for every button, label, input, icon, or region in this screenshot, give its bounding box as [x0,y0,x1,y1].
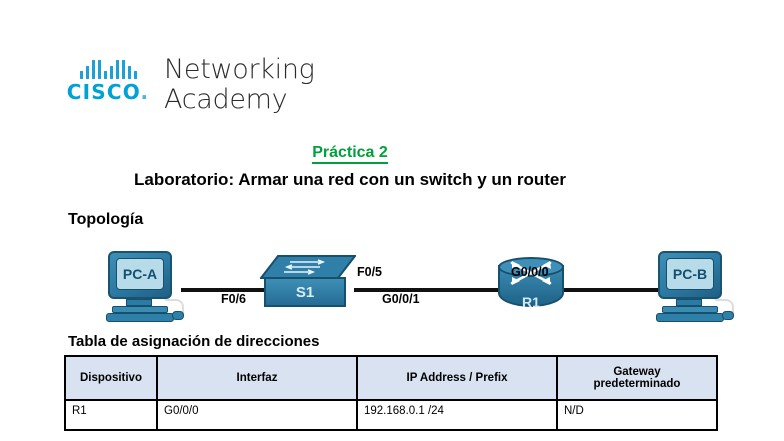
logo-line-networking: Networking [164,56,315,83]
cisco-wordmark-text: CISCO [67,80,141,104]
cell-interfaz: G0/0/0 [157,400,357,430]
interface-label-g0-0-1: G0/0/1 [382,292,420,306]
table-body: R1 G0/0/0 192.168.0.1 /24 N/D [65,400,717,430]
practica-title: Práctica 2 [0,144,700,162]
col-header-interfaz: Interfaz [157,356,357,400]
address-assignment-table: Dispositivo Interfaz IP Address / Prefix… [64,355,718,431]
pc-base-lower-icon [106,313,174,322]
pc-base-lower-icon [656,313,724,322]
cisco-networking-academy-logo: CISCO. Networking Academy [62,56,315,113]
logo-line-academy: Academy [164,86,315,113]
interface-label-f0-5: F0/5 [357,265,382,279]
pc-mouse-icon [722,311,734,320]
cisco-logo-left: CISCO. [62,56,154,103]
node-pc-a: PC-A [102,251,188,331]
cisco-wordmark: CISCO. [67,81,150,103]
switch-s1-label: S1 [264,277,346,307]
networking-academy-text: Networking Academy [164,56,315,113]
col-header-dispositivo: Dispositivo [65,356,157,400]
router-r1-label: R1 [498,294,564,310]
switch-top-icon [260,255,356,279]
interface-label-f0-6: F0/6 [221,292,246,306]
table-header: Dispositivo Interfaz IP Address / Prefix… [65,356,717,400]
pc-base-upper-icon [662,306,718,313]
cisco-bridge-icon [80,59,137,79]
pc-mouse-icon [172,311,184,320]
pc-neck-icon [126,299,152,306]
cisco-wordmark-dot: . [140,80,149,104]
interface-label-g0-0-0: G0/0/0 [511,265,549,279]
cell-ip: 192.168.0.1 /24 [357,400,557,430]
link-r1-to-pcb [554,288,667,292]
pc-base-upper-icon [112,306,168,313]
pc-a-label: PC-A [116,258,164,290]
pc-neck-icon [676,299,702,306]
pc-b-label: PC-B [666,258,714,290]
node-pc-b: PC-B [652,251,738,331]
table-row: R1 G0/0/0 192.168.0.1 /24 N/D [65,400,717,430]
col-header-gateway-line1: Gateway [564,366,710,378]
col-header-ip-prefix: IP Address / Prefix [357,356,557,400]
pc-monitor-icon: PC-B [658,251,722,299]
tabla-heading: Tabla de asignación de direcciones [68,333,319,350]
cell-gateway: N/D [557,400,717,430]
topologia-heading: Topología [68,211,143,229]
col-header-gateway: Gateway predeterminado [557,356,717,400]
link-s1-to-r1 [354,288,504,292]
network-topology-diagram: PC-A S1 [64,243,724,331]
practica-title-text: Práctica 2 [312,144,388,164]
lab-title: Laboratorio: Armar una red con un switch… [0,170,700,190]
cell-dispositivo: R1 [65,400,157,430]
table-header-row: Dispositivo Interfaz IP Address / Prefix… [65,356,717,400]
pc-monitor-icon: PC-A [108,251,172,299]
col-header-gateway-line2: predeterminado [564,378,710,390]
node-switch-s1: S1 [260,255,356,315]
